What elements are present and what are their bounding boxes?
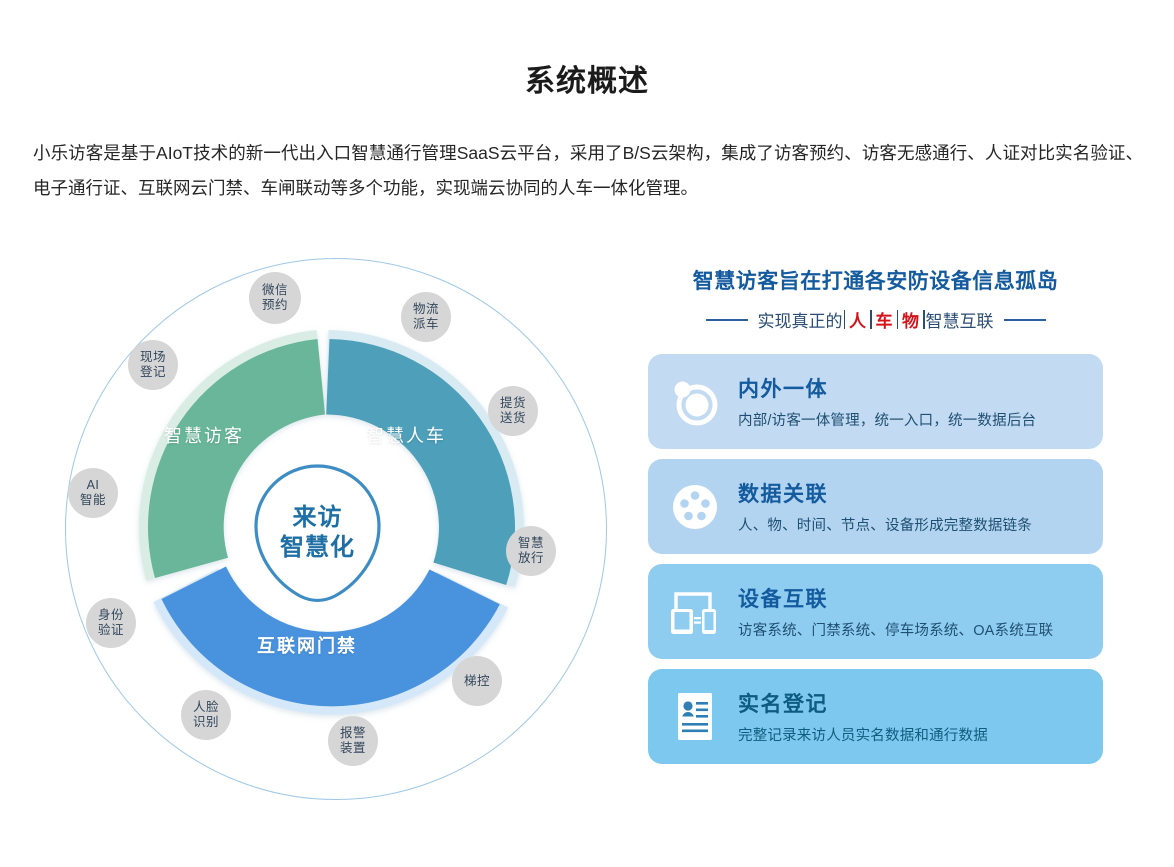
bubble-line2: 智能: [80, 493, 106, 508]
divider-right: [1004, 319, 1046, 321]
page-title: 系统概述: [0, 56, 1174, 100]
divider-left: [706, 319, 748, 321]
center-label: 来访 智慧化: [249, 460, 386, 605]
separator-bar: [844, 310, 846, 329]
id-card-icon: [664, 686, 726, 748]
separator-bar: [897, 310, 899, 329]
separator-bar: [870, 310, 872, 329]
diagram-center[interactable]: 来访 智慧化: [249, 460, 386, 605]
subheading-hl-object: 物: [899, 307, 922, 332]
separator-bar: [923, 310, 925, 329]
bubble-pickup-delivery[interactable]: 提货 送货: [488, 386, 538, 436]
bubble-line2: 派车: [413, 317, 439, 332]
bubble-line1: 报警: [340, 726, 366, 741]
bubble-identity-verification[interactable]: 身份 验证: [86, 598, 136, 648]
bubble-wechat-booking[interactable]: 微信 预约: [249, 272, 301, 324]
bubble-line1: 智慧: [518, 536, 544, 551]
bubble-line1: 物流: [413, 302, 439, 317]
bubble-elevator-control[interactable]: 梯控: [452, 656, 502, 706]
subheading-hl-person: 人: [846, 307, 869, 332]
panel-heading: 智慧访客旨在打通各安防设备信息孤岛: [648, 265, 1103, 295]
right-panel: 智慧访客旨在打通各安防设备信息孤岛 实现真正的 人 车 物 智慧互联: [648, 265, 1103, 764]
bubble-line1: 提货: [500, 396, 526, 411]
subheading-prefix: 实现真正的: [758, 307, 843, 332]
bubble-line2: 送货: [500, 411, 526, 426]
bubble-line1: 微信: [262, 283, 288, 298]
card-title: 内外一体: [738, 373, 1036, 403]
devices-icon: [664, 581, 726, 643]
card-body: 数据关联 人、物、时间、节点、设备形成完整数据链条: [738, 478, 1032, 535]
slide-root: 系统概述 小乐访客是基于AIoT技术的新一代出入口智慧通行管理SaaS云平台，采…: [0, 0, 1174, 867]
bubble-line2: 登记: [140, 365, 166, 380]
bubble-line1: AI: [87, 478, 100, 493]
bubble-ai-intelligence[interactable]: AI 智能: [68, 468, 118, 518]
card-body: 内外一体 内部/访客一体管理，统一入口，统一数据后台: [738, 373, 1036, 430]
card-desc: 完整记录来访人员实名数据和通行数据: [738, 724, 988, 745]
sector-label-smart-people-vehicle: 智慧人车: [366, 422, 446, 448]
subheading-hl-vehicle: 车: [873, 307, 896, 332]
feature-card-list: 内外一体 内部/访客一体管理，统一入口，统一数据后台: [648, 354, 1103, 764]
subheading-text: 实现真正的 人 车 物 智慧互联: [758, 307, 994, 332]
bubble-line2: 验证: [98, 623, 124, 638]
card-title: 设备互联: [738, 583, 1053, 613]
bubble-face-recognition[interactable]: 人脸 识别: [181, 690, 231, 740]
bubble-line2: 装置: [340, 741, 366, 756]
bubble-smart-release[interactable]: 智慧 放行: [506, 526, 556, 576]
bubble-line1: 梯控: [464, 674, 490, 689]
bubble-line2: 放行: [518, 551, 544, 566]
center-label-line2: 智慧化: [280, 533, 355, 563]
ring-dot-icon: [664, 371, 726, 433]
bubble-line2: 识别: [193, 715, 219, 730]
bubble-line1: 身份: [98, 608, 124, 623]
bubble-logistics-dispatch[interactable]: 物流 派车: [401, 292, 451, 342]
feature-card-internal-external-integration[interactable]: 内外一体 内部/访客一体管理，统一入口，统一数据后台: [648, 354, 1103, 449]
card-title: 实名登记: [738, 688, 988, 718]
card-body: 设备互联 访客系统、门禁系统、停车场系统、OA系统互联: [738, 583, 1053, 640]
feature-card-device-interconnection[interactable]: 设备互联 访客系统、门禁系统、停车场系统、OA系统互联: [648, 564, 1103, 659]
bubble-line1: 人脸: [193, 700, 219, 715]
card-title: 数据关联: [738, 478, 1032, 508]
bubble-alarm-device[interactable]: 报警 装置: [328, 716, 378, 766]
subheading-suffix: 智慧互联: [926, 307, 994, 332]
feature-card-real-name-registration[interactable]: 实名登记 完整记录来访人员实名数据和通行数据: [648, 669, 1103, 764]
circular-diagram: 来访 智慧化 智慧访客 智慧人车 互联网门禁 微信 预约 物流 派车 现场 登记…: [60, 250, 610, 810]
card-desc: 人、物、时间、节点、设备形成完整数据链条: [738, 514, 1032, 535]
sector-label-internet-access-control: 互联网门禁: [257, 632, 357, 658]
intro-paragraph: 小乐访客是基于AIoT技术的新一代出入口智慧通行管理SaaS云平台，采用了B/S…: [33, 136, 1143, 206]
card-body: 实名登记 完整记录来访人员实名数据和通行数据: [738, 688, 988, 745]
card-desc: 内部/访客一体管理，统一入口，统一数据后台: [738, 409, 1036, 430]
feature-card-data-association[interactable]: 数据关联 人、物、时间、节点、设备形成完整数据链条: [648, 459, 1103, 554]
bubble-line1: 现场: [140, 350, 166, 365]
bubble-line2: 预约: [262, 298, 288, 313]
card-desc: 访客系统、门禁系统、停车场系统、OA系统互联: [738, 619, 1053, 640]
dots-circle-icon: [664, 476, 726, 538]
sector-label-smart-visitor: 智慧访客: [164, 422, 244, 448]
center-label-line1: 来访: [293, 503, 343, 533]
panel-subheading: 实现真正的 人 车 物 智慧互联: [648, 307, 1103, 332]
bubble-onsite-registration[interactable]: 现场 登记: [128, 340, 178, 390]
